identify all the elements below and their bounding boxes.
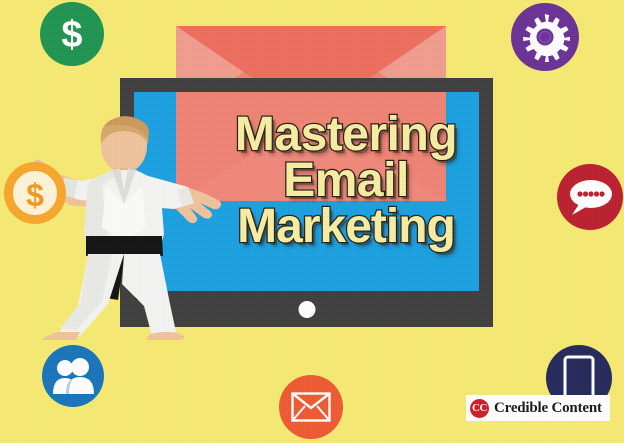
tablet-home-button[interactable] xyxy=(298,301,315,318)
title-line-2: Email xyxy=(196,158,496,204)
title-line-1: Mastering xyxy=(196,112,496,158)
cc-badge-icon: CC xyxy=(470,399,489,418)
chat-bubble-icon xyxy=(557,164,623,230)
gear-icon xyxy=(511,3,579,71)
dollar-coin-icon: $ xyxy=(2,160,68,226)
people-group-icon xyxy=(42,345,104,407)
svg-text:$: $ xyxy=(26,177,44,213)
title-line-3: Marketing xyxy=(196,204,496,250)
svg-text:$: $ xyxy=(61,14,82,56)
envelope-icon xyxy=(279,375,343,439)
brand-logo[interactable]: CC Credible Content xyxy=(466,395,610,421)
dollar-sign-icon: $ xyxy=(40,2,104,66)
banner-canvas: Mastering Email Marketing $ $ xyxy=(0,0,624,443)
page-title: Mastering Email Marketing xyxy=(196,112,496,250)
brand-name: Credible Content xyxy=(494,400,602,417)
